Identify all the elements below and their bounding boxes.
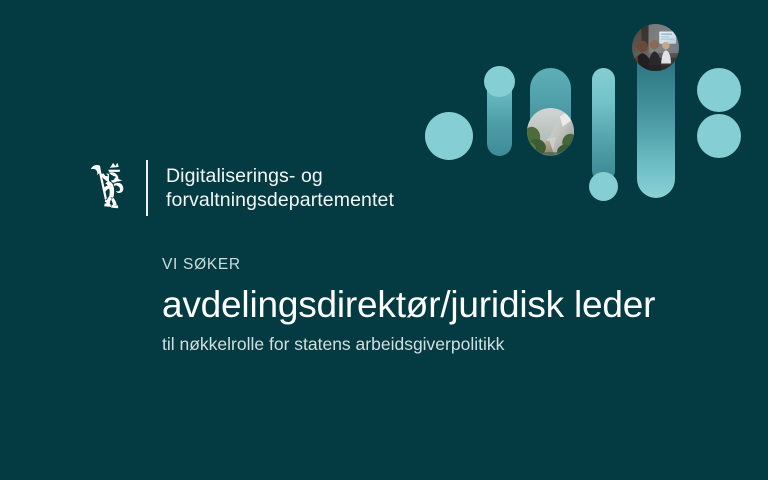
recruitment-text-block: VI SØKER avdelingsdirektør/juridisk lede… [162,255,655,356]
decor-pill-2-top-cap-circle [484,66,515,97]
decor-pill-4 [592,68,615,182]
decor-pill-5 [637,30,675,198]
logo-divider [146,160,148,216]
decor-pill-3 [530,68,571,156]
decor-circle-3 [697,114,741,158]
decor-circle-2 [697,68,741,112]
job-subtitle: til nøkkelrolle for statens arbeidsgiver… [162,332,655,356]
recruitment-poster: Digitaliserings- og forvaltningsdepartem… [0,0,768,480]
meeting-photo [632,24,679,71]
eyebrow-label: VI SØKER [162,255,655,275]
decor-pill-2 [487,68,512,156]
job-title-headline: avdelingsdirektør/juridisk leder [162,281,655,328]
decor-pill-4-bottom-cap-circle [589,172,618,201]
organization-name: Digitaliserings- og forvaltningsdepartem… [166,164,394,212]
logo-block: Digitaliserings- og forvaltningsdepartem… [88,160,394,216]
decor-circle-1 [425,112,473,160]
building-photo [527,108,574,155]
norwegian-coat-of-arms-lion-icon [88,160,130,216]
